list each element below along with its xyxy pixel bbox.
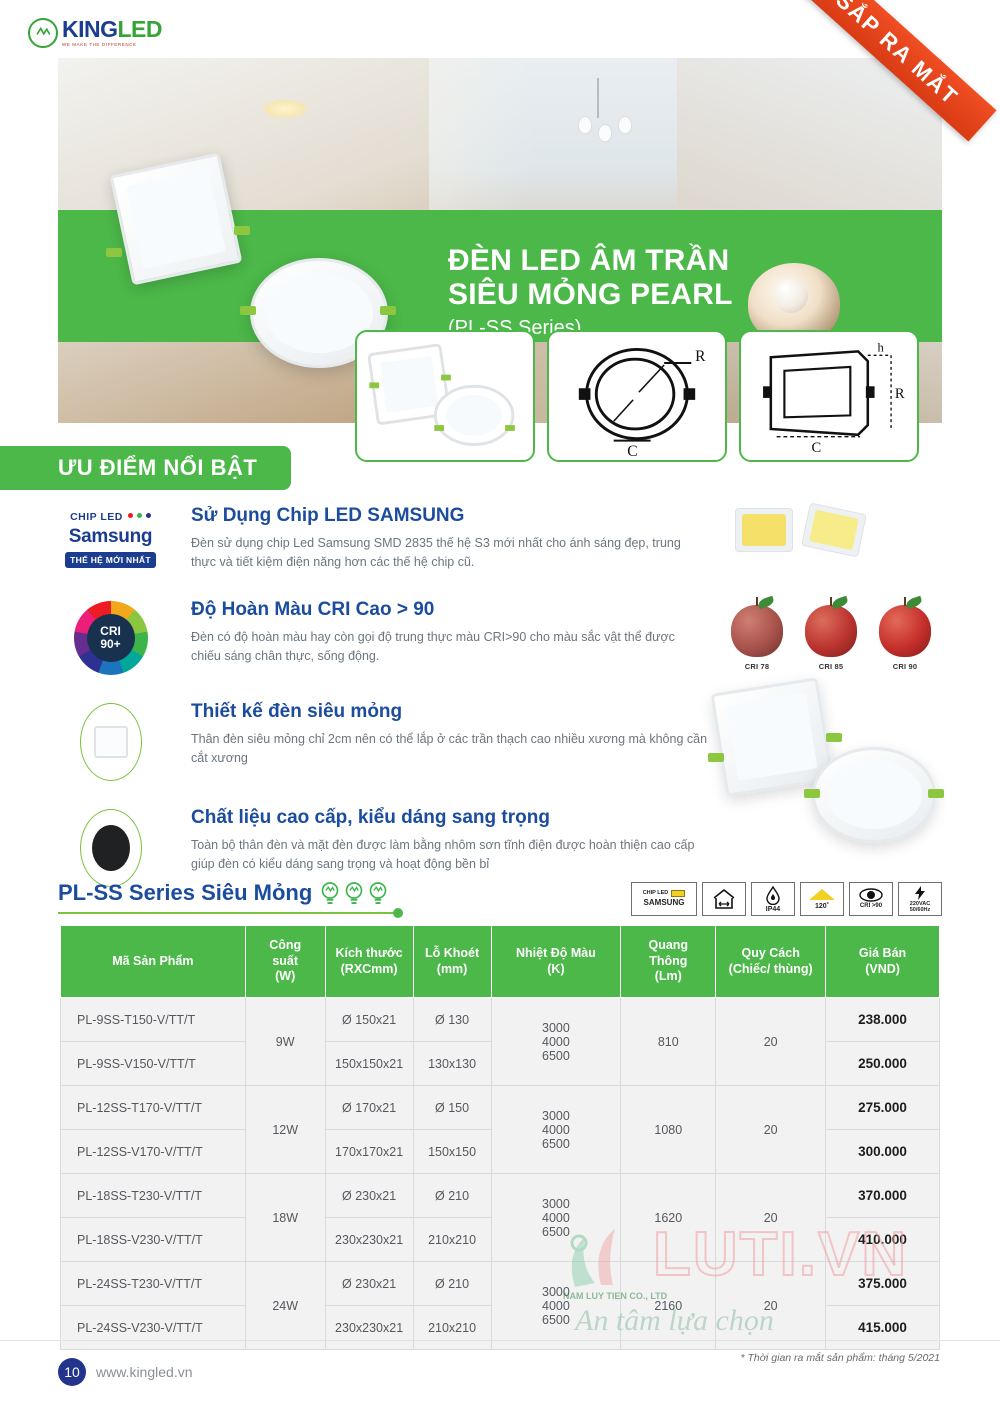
- cell-packing: 20: [716, 998, 826, 1086]
- chip-led-samsung-badge: CHIP LED SAMSUNG: [631, 882, 697, 916]
- page-footer: 10 www.kingled.vn: [58, 1358, 193, 1386]
- cell-power: 9W: [245, 998, 325, 1086]
- table-title: PL-SS Series Siêu Mỏng: [58, 880, 312, 906]
- col-packing: Quy Cách(Chiếc/ thùng): [716, 926, 826, 998]
- bulb-icon: [368, 881, 388, 905]
- cell-product-code: PL-12SS-V170-V/TT/T: [61, 1130, 246, 1174]
- beam-angle-badge: 120˚: [800, 882, 844, 916]
- cell-size: Ø 150x21: [325, 998, 413, 1042]
- cell-price: 275.000: [826, 1086, 940, 1130]
- cri-sample-label: CRI 78: [728, 662, 786, 671]
- cell-size: 150x150x21: [325, 1042, 413, 1086]
- cell-price: 300.000: [826, 1130, 940, 1174]
- logo-led-text: LED: [118, 16, 163, 42]
- voltage-badge: 220VAC 50/60Hz: [898, 882, 942, 916]
- table-header-row: Mã Sản Phẩm Côngsuất(W) Kích thước(RXCmm…: [61, 926, 940, 998]
- product-photo-pair: [700, 675, 950, 865]
- feature-item: Chất liệu cao cấp, kiểu dáng sang trọng …: [48, 807, 708, 887]
- table-row: PL-12SS-T170-V/TT/T 12W Ø 170x21 Ø 150 3…: [61, 1086, 940, 1130]
- cell-packing: 20: [716, 1174, 826, 1262]
- label-C: C: [812, 440, 822, 456]
- cell-price: 415.000: [826, 1306, 940, 1350]
- badge-cri-label: CRI >90: [860, 903, 882, 909]
- cell-size: Ø 170x21: [325, 1086, 413, 1130]
- col-power: Côngsuất(W): [245, 926, 325, 998]
- cell-cutout: Ø 210: [413, 1262, 491, 1306]
- lamp-clip-icon: [380, 306, 396, 315]
- cell-product-code: PL-12SS-T170-V/TT/T: [61, 1086, 246, 1130]
- badge-ip-label: IP44: [766, 906, 780, 913]
- feature-item: CHIP LED Samsung THẾ HỆ MỚI NHẤT Sử Dụng…: [48, 505, 708, 573]
- logo-tagline: WE MAKE THE DIFFERENCE: [62, 43, 162, 48]
- hero-title-line1: ĐÈN LED ÂM TRẦN: [448, 244, 729, 277]
- lamp-clip-icon: [106, 248, 122, 257]
- smd-chip-photos: [735, 508, 863, 552]
- cri-wheel-line2: 90+: [100, 638, 120, 651]
- cell-size: Ø 230x21: [325, 1262, 413, 1306]
- feature-desc: Toàn bộ thân đèn và mặt đèn được làm bằn…: [191, 836, 708, 875]
- cell-cutout: Ø 130: [413, 998, 491, 1042]
- col-size: Kích thước(RXCmm): [325, 926, 413, 998]
- section-tab-advantages: ƯU ĐIỂM NỔI BẬT: [0, 446, 291, 490]
- cell-packing: 20: [716, 1086, 826, 1174]
- lamp-clip-icon: [928, 789, 944, 798]
- feature-item: Thiết kế đèn siêu mỏng Thân đèn siêu mỏn…: [48, 701, 708, 781]
- smd-chip-icon: [801, 502, 867, 557]
- feature-title: Độ Hoàn Màu CRI Cao > 90: [191, 599, 708, 621]
- cell-size: 230x230x21: [325, 1306, 413, 1350]
- lamp-clip-icon: [240, 306, 256, 315]
- cri-apple-comparison: CRI 78 CRI 85 CRI 90: [728, 605, 934, 671]
- cell-lumen: 1080: [621, 1086, 716, 1174]
- cell-lumen: 810: [621, 998, 716, 1086]
- feature-desc: Đèn sử dụng chip Led Samsung SMD 2835 th…: [191, 534, 708, 573]
- thumb-product-photo: [355, 330, 535, 462]
- cell-size: 170x170x21: [325, 1130, 413, 1174]
- col-cct: Nhiệt Độ Màu(K): [491, 926, 621, 998]
- bulb-rating-icons: [320, 881, 388, 905]
- logo-mark-icon: [28, 18, 58, 48]
- cell-price: 370.000: [826, 1174, 940, 1218]
- label-R: R: [695, 348, 706, 365]
- table-row: PL-18SS-T230-V/TT/T 18W Ø 230x21 Ø 210 3…: [61, 1174, 940, 1218]
- table-row: PL-9SS-T150-V/TT/T 9W Ø 150x21 Ø 130 300…: [61, 998, 940, 1042]
- badge-chipled-label: CHIP LED: [643, 891, 669, 897]
- thumb-square-drawing: h R C: [739, 330, 919, 462]
- cell-cutout: Ø 210: [413, 1174, 491, 1218]
- cell-product-code: PL-24SS-V230-V/TT/T: [61, 1306, 246, 1350]
- cell-cutout: 150x150: [413, 1130, 491, 1174]
- feature-desc: Đèn có độ hoàn màu hay còn gọi độ trung …: [191, 628, 708, 667]
- cri-badge: CRI >90: [849, 882, 893, 916]
- cell-size: Ø 230x21: [325, 1174, 413, 1218]
- product-thumbnails: R C h R C: [355, 330, 919, 462]
- cell-cct: 300040006500: [491, 1262, 621, 1350]
- round-panel-photo: [812, 747, 936, 843]
- chandelier: [538, 78, 658, 168]
- cell-product-code: PL-9SS-V150-V/TT/T: [61, 1042, 246, 1086]
- cell-cct: 300040006500: [491, 1174, 621, 1262]
- cri-sample: CRI 90: [876, 605, 934, 671]
- cell-lumen: 2160: [621, 1262, 716, 1350]
- label-C: C: [627, 443, 637, 460]
- cell-packing: 20: [716, 1262, 826, 1350]
- cell-power: 12W: [245, 1086, 325, 1174]
- feature-title: Thiết kế đèn siêu mỏng: [191, 701, 708, 723]
- cell-price: 250.000: [826, 1042, 940, 1086]
- specification-table: Mã Sản Phẩm Côngsuất(W) Kích thước(RXCmm…: [60, 925, 940, 1350]
- col-product-code: Mã Sản Phẩm: [61, 926, 246, 998]
- samsung-badge-line2: Samsung: [50, 526, 172, 548]
- ceiling-light-glow: [263, 100, 307, 118]
- badge-angle-label: 120˚: [815, 903, 829, 910]
- samsung-chip-badge-icon: CHIP LED Samsung THẾ HỆ MỚI NHẤT: [48, 505, 173, 573]
- cell-cct: 300040006500: [491, 1086, 621, 1174]
- cell-size: 230x230x21: [325, 1218, 413, 1262]
- lamp-clip-icon: [234, 226, 250, 235]
- website-url[interactable]: www.kingled.vn: [96, 1364, 193, 1380]
- cell-price: 375.000: [826, 1262, 940, 1306]
- page-number: 10: [58, 1358, 86, 1386]
- samsung-badge-line1: CHIP LED: [70, 511, 123, 523]
- lamp-clip-icon: [708, 753, 724, 762]
- badge-samsung-label: SAMSUNG: [644, 899, 685, 907]
- col-lumen: QuangThông(Lm): [621, 926, 716, 998]
- cell-lumen: 1620: [621, 1174, 716, 1262]
- lamp-clip-icon: [826, 733, 842, 742]
- features-list: CHIP LED Samsung THẾ HỆ MỚI NHẤT Sử Dụng…: [48, 505, 708, 913]
- cell-product-code: PL-9SS-T150-V/TT/T: [61, 998, 246, 1042]
- hero-title-line2: SIÊU MỎNG PEARL: [448, 278, 733, 311]
- logo-king-text: KING: [62, 16, 118, 42]
- feature-title: Chất liệu cao cấp, kiểu dáng sang trọng: [191, 807, 708, 829]
- certification-badges: CHIP LED SAMSUNG IP44 120˚ CRI >90 220VA…: [631, 882, 942, 916]
- label-R: R: [895, 386, 905, 402]
- cri-wheel-line1: CRI: [100, 625, 121, 638]
- indoor-use-badge: [702, 882, 746, 916]
- cell-price: 410.000: [826, 1218, 940, 1262]
- cell-product-code: PL-18SS-T230-V/TT/T: [61, 1174, 246, 1218]
- samsung-badge-line3: THẾ HỆ MỚI NHẤT: [65, 552, 156, 568]
- col-cutout: Lỗ Khoét(mm): [413, 926, 491, 998]
- cell-power: 18W: [245, 1174, 325, 1262]
- launch-date-footnote: * Thời gian ra mắt sản phẩm: tháng 5/202…: [740, 1352, 940, 1364]
- feature-item: CRI 90+ Độ Hoàn Màu CRI Cao > 90 Đèn có …: [48, 599, 708, 675]
- badge-voltage-line2: 50/60Hz: [910, 908, 931, 914]
- ip44-badge: IP44: [751, 882, 795, 916]
- cri-sample: CRI 78: [728, 605, 786, 671]
- feature-desc: Thân đèn siêu mỏng chỉ 2cm nên có thể lắ…: [191, 730, 708, 769]
- bulb-icon: [320, 881, 340, 905]
- ultra-thin-panel-icon: [48, 701, 173, 781]
- brand-logo: KINGLED WE MAKE THE DIFFERENCE: [28, 18, 162, 48]
- bulb-icon: [344, 881, 364, 905]
- cell-product-code: PL-18SS-V230-V/TT/T: [61, 1218, 246, 1262]
- cell-cct: 300040006500: [491, 998, 621, 1086]
- label-h: h: [877, 340, 884, 354]
- cell-cutout: Ø 150: [413, 1086, 491, 1130]
- hero-square-lamp: [110, 153, 243, 286]
- feature-title: Sử Dụng Chip LED SAMSUNG: [191, 505, 708, 527]
- lamp-clip-icon: [804, 789, 820, 798]
- cri-sample: CRI 85: [802, 605, 860, 671]
- cell-power: 24W: [245, 1262, 325, 1350]
- table-title-block: PL-SS Series Siêu Mỏng: [58, 880, 388, 906]
- cri-sample-label: CRI 90: [876, 662, 934, 671]
- cell-cutout: 210x210: [413, 1306, 491, 1350]
- title-underline: [58, 912, 398, 914]
- cell-price: 238.000: [826, 998, 940, 1042]
- smd-chip-icon: [735, 508, 793, 552]
- table-row: PL-24SS-T230-V/TT/T 24W Ø 230x21 Ø 210 3…: [61, 1262, 940, 1306]
- footer-divider: [0, 1340, 1000, 1341]
- cell-product-code: PL-24SS-T230-V/TT/T: [61, 1262, 246, 1306]
- cri-sample-label: CRI 85: [802, 662, 860, 671]
- cri-color-wheel-icon: CRI 90+: [48, 599, 173, 675]
- cell-cutout: 130x130: [413, 1042, 491, 1086]
- premium-material-icon: [48, 807, 173, 887]
- cell-cutout: 210x210: [413, 1218, 491, 1262]
- thumb-round-drawing: R C: [547, 330, 727, 462]
- table-body: PL-9SS-T150-V/TT/T 9W Ø 150x21 Ø 130 300…: [61, 998, 940, 1350]
- col-price: Giá Bán(VND): [826, 926, 940, 998]
